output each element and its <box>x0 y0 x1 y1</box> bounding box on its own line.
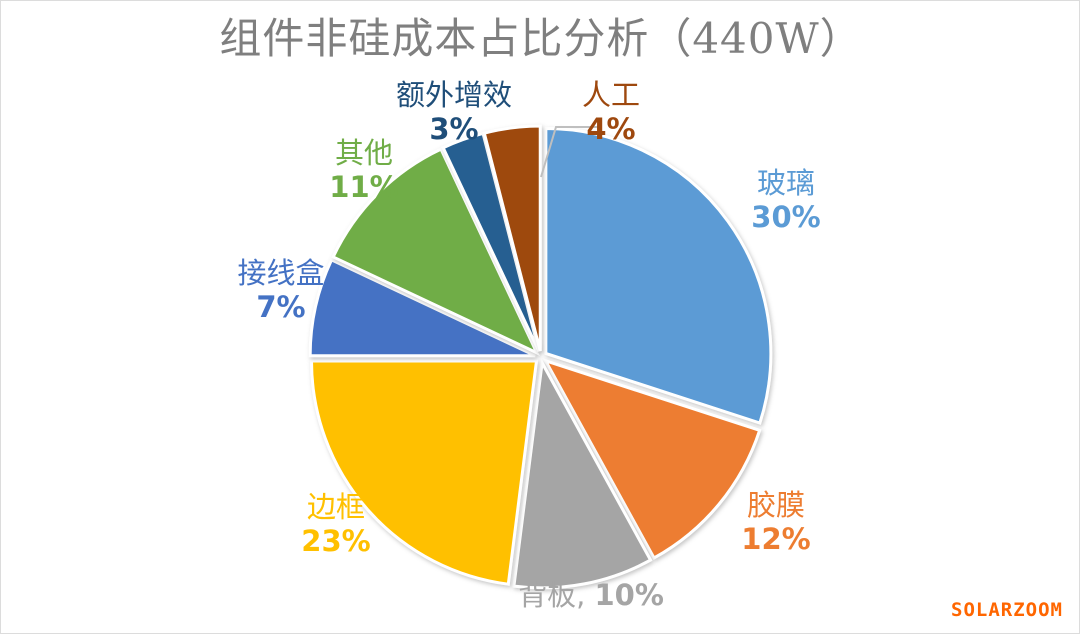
pie-label-backsheet-value: 10% <box>595 578 664 612</box>
pie-label-labor-name: 人工 <box>546 79 676 111</box>
pie-label-film-name: 胶膜 <box>691 489 861 521</box>
pie-label-frame-value: 23% <box>251 525 421 557</box>
pie-label-film-value: 12% <box>691 523 861 555</box>
pie-label-other: 其他 11% <box>289 137 439 204</box>
pie-label-labor: 人工 4% <box>546 79 676 146</box>
pie-label-junction: 接线盒 7% <box>191 257 371 324</box>
pie-label-glass-name: 玻璃 <box>701 167 871 199</box>
solarzoom-watermark: SOLARZOOM <box>951 599 1063 621</box>
pie-label-glass-value: 30% <box>701 201 871 233</box>
pie-label-frame: 边框 23% <box>251 491 421 558</box>
pie-label-frame-name: 边框 <box>251 491 421 523</box>
pie-label-labor-value: 4% <box>546 113 676 145</box>
pie-label-junction-name: 接线盒 <box>191 257 371 289</box>
pie-label-glass: 玻璃 30% <box>701 167 871 234</box>
pie-label-other-value: 11% <box>289 171 439 203</box>
pie-label-junction-value: 7% <box>191 291 371 323</box>
pie-label-extra-value: 3% <box>369 113 539 145</box>
pie-label-extra: 额外增效 3% <box>369 79 539 146</box>
pie-label-backsheet-name: 背板, <box>518 578 594 612</box>
pie-label-extra-name: 额外增效 <box>369 79 539 111</box>
pie-label-film: 胶膜 12% <box>691 489 861 556</box>
chart-canvas: 组件非硅成本占比分析（440W） 玻璃 30% 胶膜 12% 背板, 10% 边… <box>0 0 1080 634</box>
pie-chart <box>1 1 1080 635</box>
pie-label-backsheet: 背板, 10% <box>471 579 711 611</box>
